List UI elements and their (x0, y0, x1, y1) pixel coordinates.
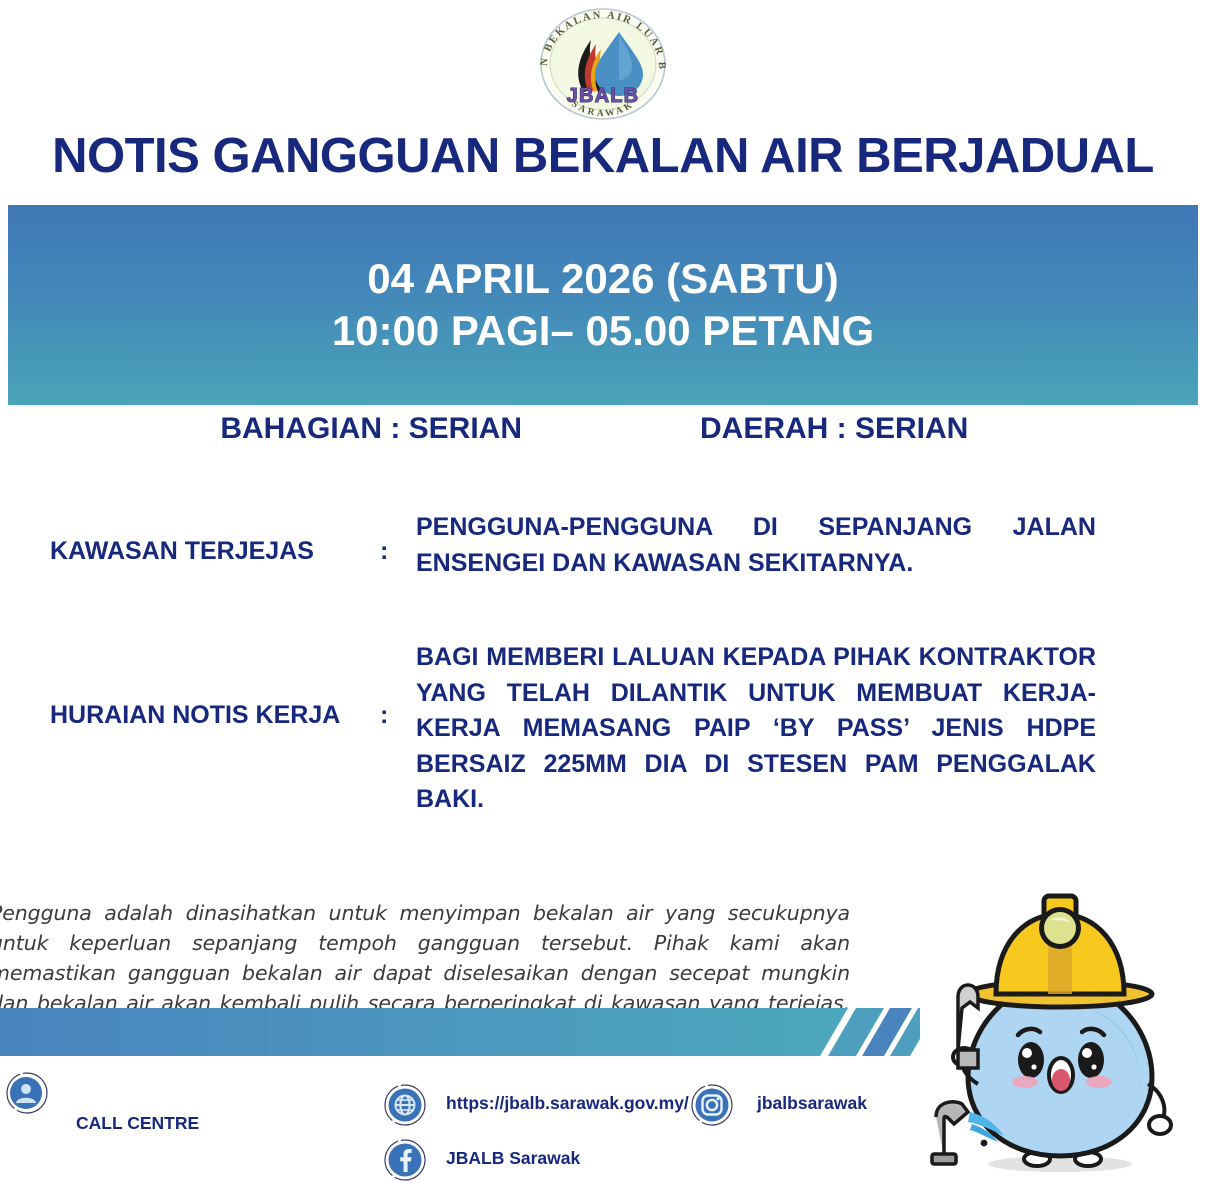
notice-page: JABATAN BEKALAN AIR LUAR BANDAR SARAWAK … (0, 0, 1206, 1182)
huraian-notis-kerja-value: BAGI MEMBERI LALUAN KEPADA PIHAK KONTRAK… (416, 640, 1096, 818)
contact-banner: HUBUNGI KAMI (0, 1008, 920, 1056)
facebook-handle[interactable]: JBALB Sarawak (446, 1148, 580, 1169)
huraian-notis-kerja-label: HURAIAN NOTIS KERJA (50, 640, 380, 790)
kawasan-terjejas-label: KAWASAN TERJEJAS (50, 510, 380, 592)
facebook-icon[interactable] (384, 1139, 426, 1181)
user-icon (6, 1072, 48, 1114)
water-droplet-mascot (900, 872, 1206, 1182)
svg-text:JBALB: JBALB (567, 85, 640, 107)
call-centre-block: CALL CENTRE JBALB SARAWAK : 082-262211 J… (76, 1066, 382, 1182)
daerah-label: DAERAH : SERIAN (700, 412, 1206, 446)
date-banner: 04 APRIL 2026 (SABTU) 10:00 PAGI– 05.00 … (8, 205, 1198, 405)
bahagian-label: BAHAGIAN : SERIAN (0, 412, 700, 446)
kawasan-terjejas-value: PENGGUNA-PENGGUNA DI SEPANJANG JALAN ENS… (416, 510, 1096, 592)
kawasan-terjejas-colon: : (380, 510, 416, 592)
jbalb-logo: JABATAN BEKALAN AIR LUAR BANDAR SARAWAK … (527, 6, 679, 122)
website-link[interactable]: https://jbalb.sarawak.gov.my/ (446, 1093, 689, 1114)
detail-row-huraian-notis-kerja: HURAIAN NOTIS KERJA : BAGI MEMBERI LALUA… (50, 640, 1130, 818)
notice-time-range: 10:00 PAGI– 05.00 PETANG (332, 307, 874, 355)
detail-row-kawasan-terjejas: KAWASAN TERJEJAS : PENGGUNA-PENGGUNA DI … (50, 510, 1110, 592)
page-title: NOTIS GANGGUAN BEKALAN AIR BERJADUAL (0, 128, 1206, 184)
call-centre-heading: CALL CENTRE (76, 1112, 382, 1135)
notice-date: 04 APRIL 2026 (SABTU) (367, 255, 838, 303)
region-row: BAHAGIAN : SERIAN DAERAH : SERIAN (0, 412, 1206, 446)
contact-banner-shape (0, 1008, 920, 1056)
logo-container: JABATAN BEKALAN AIR LUAR BANDAR SARAWAK … (0, 6, 1206, 122)
globe-icon[interactable] (384, 1084, 426, 1126)
huraian-notis-kerja-colon: : (380, 640, 416, 790)
instagram-handle[interactable]: jbalbsarawak (757, 1093, 867, 1114)
instagram-icon[interactable] (691, 1084, 733, 1126)
